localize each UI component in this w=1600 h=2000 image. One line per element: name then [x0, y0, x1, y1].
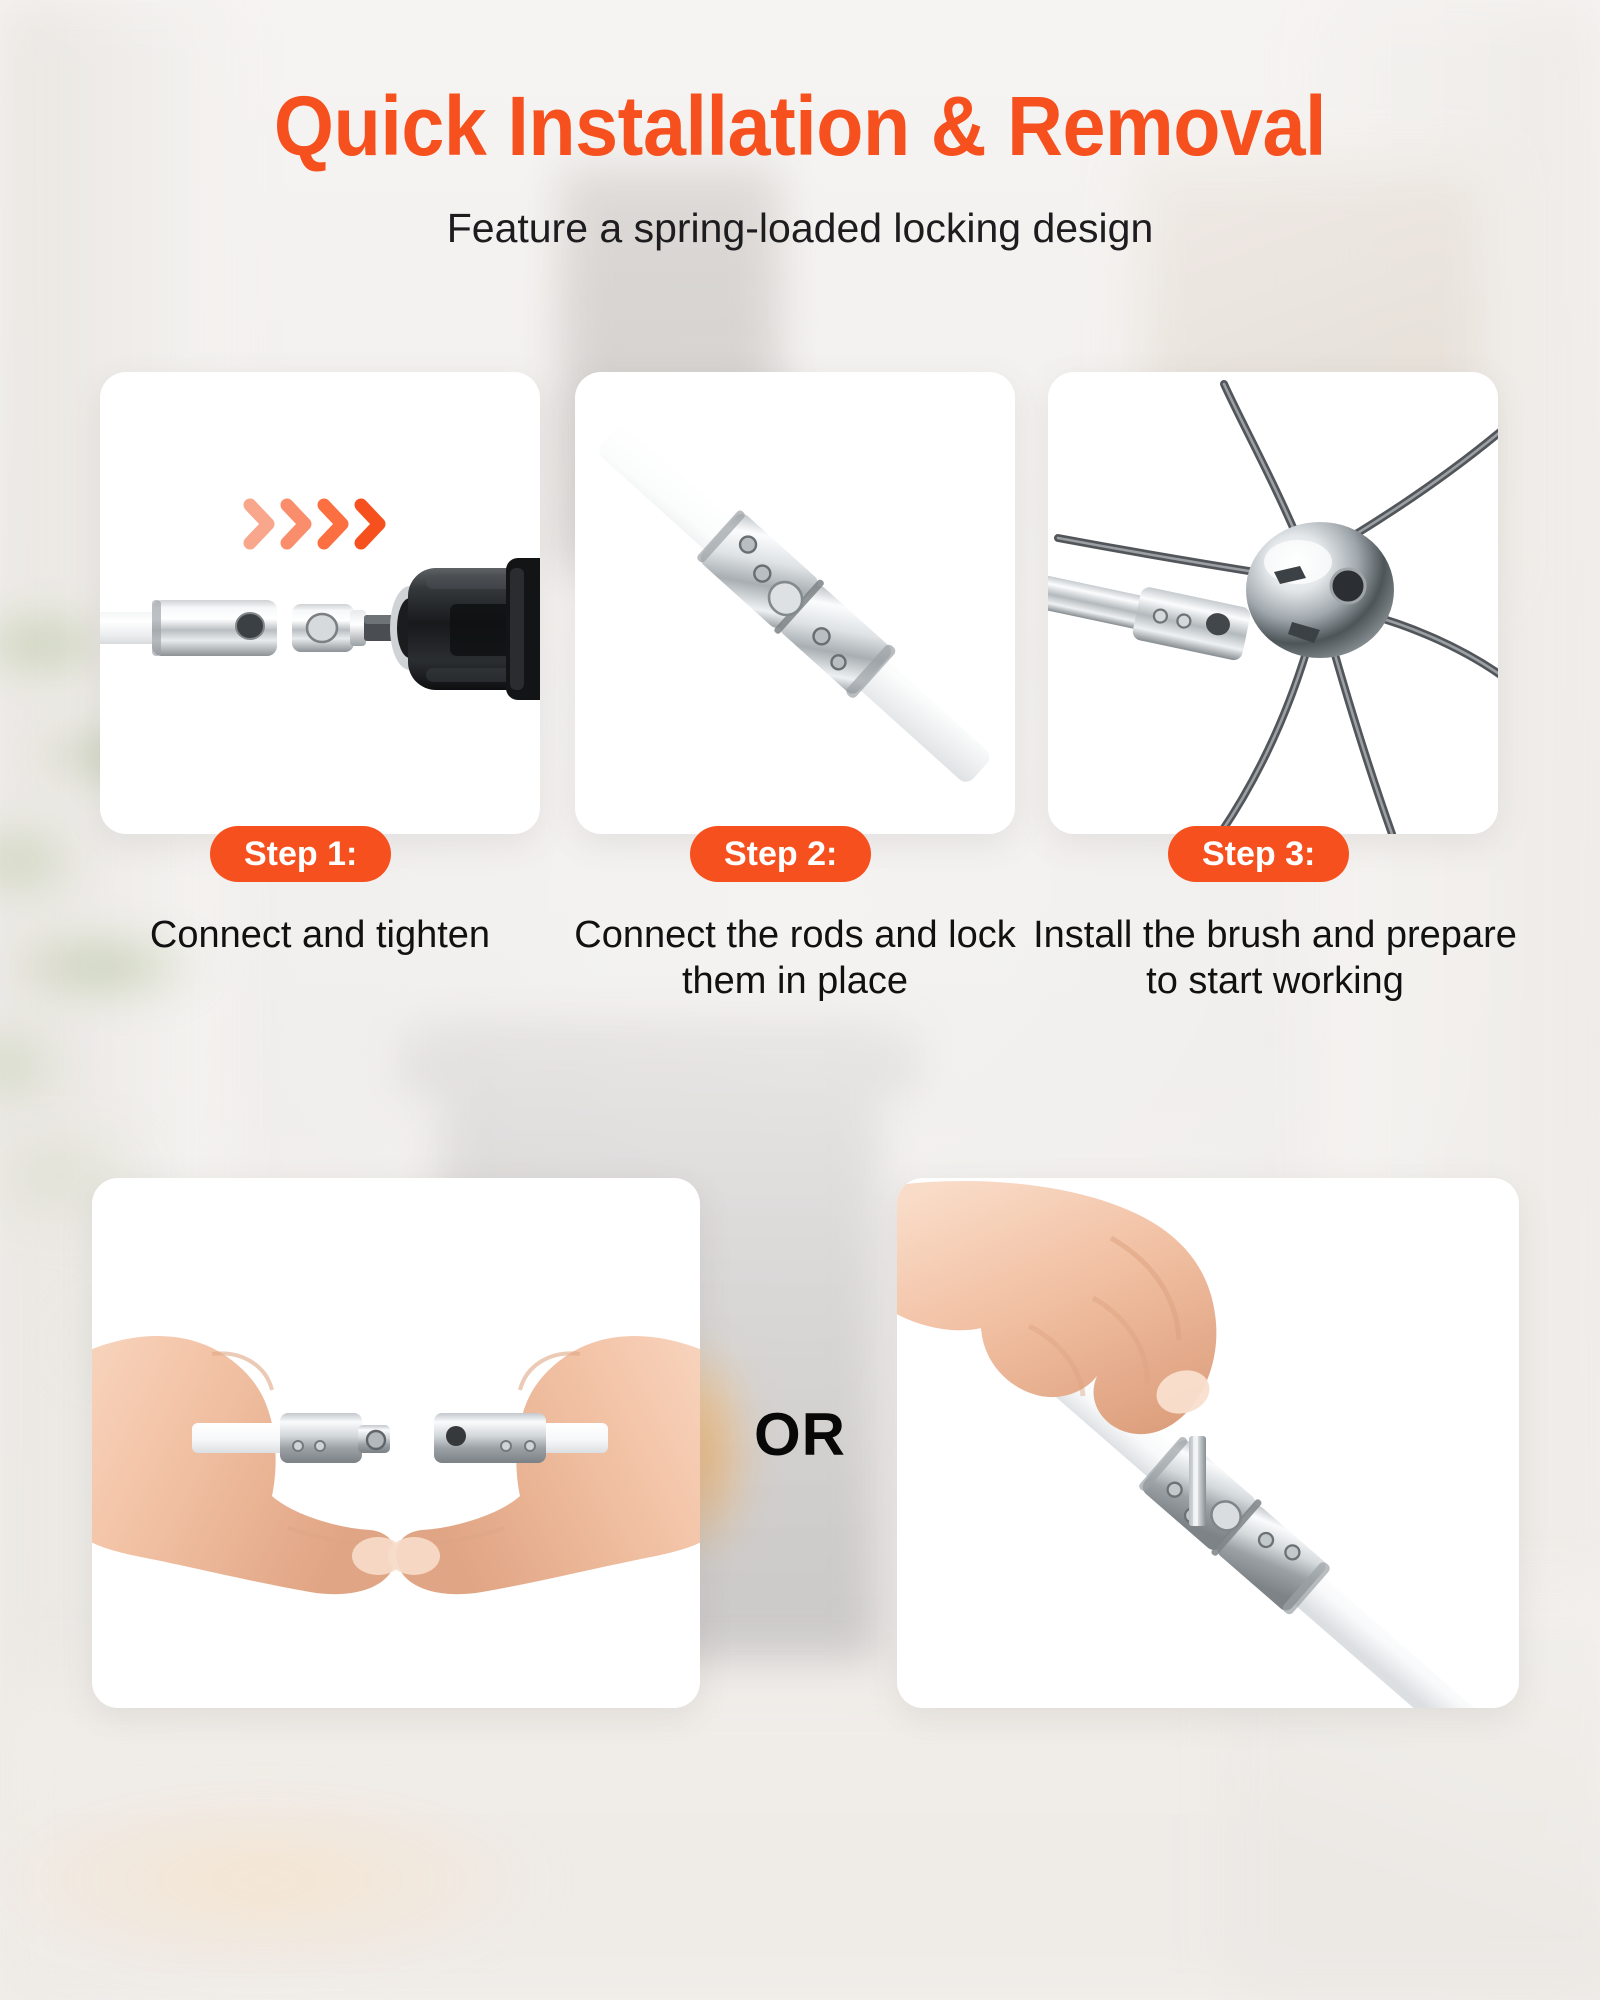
rod-with-connector	[1048, 561, 1252, 662]
right-hand	[388, 1336, 700, 1594]
step-2-caption: Connect the rods and lock them in place	[555, 912, 1035, 1005]
drill-chuck	[390, 558, 540, 700]
rod-coupling	[694, 507, 898, 701]
page-title: Quick Installation & Removal	[64, 78, 1536, 175]
removal-with-hex-key-image-card	[897, 1178, 1519, 1708]
step-1-illustration	[100, 372, 540, 834]
hand-with-hex-key-illustration	[897, 1178, 1519, 1708]
step-1-image-card	[100, 372, 540, 834]
rod-chrome-connector	[152, 600, 277, 656]
direction-chevrons-icon	[250, 505, 379, 543]
step-3-image-card	[1048, 372, 1498, 834]
brush-ball-head	[1246, 522, 1394, 658]
step-2-illustration	[575, 372, 1015, 834]
page-subtitle: Feature a spring-loaded locking design	[0, 205, 1600, 252]
removal-by-hand-image-card	[92, 1178, 700, 1708]
hex-adapter	[292, 604, 400, 652]
step-1-badge: Step 1:	[210, 826, 391, 882]
step-3-illustration	[1048, 372, 1498, 834]
step-2-image-card	[575, 372, 1015, 834]
hand-holding-hex-key	[897, 1181, 1216, 1434]
step-1-caption: Connect and tighten	[80, 912, 560, 958]
spring-button-icon	[367, 1431, 385, 1449]
hex-key-icon	[1189, 1436, 1206, 1526]
spring-button-hole-icon	[446, 1426, 466, 1446]
step-3-caption: Install the brush and prepare to start w…	[1030, 912, 1520, 1005]
or-separator-label: OR	[700, 1400, 900, 1469]
step-3-badge: Step 3:	[1168, 826, 1349, 882]
left-hand	[92, 1336, 404, 1594]
step-2-badge: Step 2:	[690, 826, 871, 882]
two-hands-separating-rods-illustration	[92, 1178, 700, 1708]
